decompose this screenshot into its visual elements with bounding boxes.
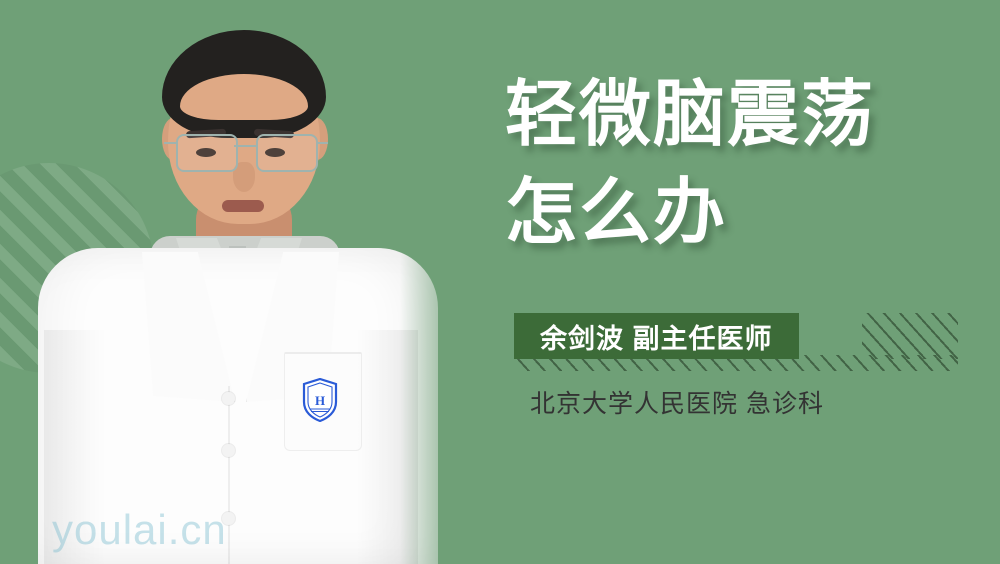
svg-text:H: H: [315, 393, 325, 408]
doctor-name-label: 余剑波 副主任医师: [540, 317, 773, 356]
coat-button-bottom: [222, 512, 235, 525]
glasses-temple-right: [316, 142, 328, 144]
badge-stripes-right: [862, 313, 958, 359]
doctor-name-badge: 余剑波 副主任医师: [514, 313, 799, 359]
coat-shading-right: [356, 330, 418, 564]
glasses-bridge: [234, 145, 256, 147]
eyeglasses: [176, 134, 316, 176]
coat-seam: [228, 386, 230, 564]
page-title: 轻微脑震荡 怎么办: [505, 66, 975, 262]
glasses-lens-left: [176, 134, 238, 172]
hospital-shield-emblem-icon: H: [302, 378, 338, 422]
coat-button-middle: [222, 444, 235, 457]
mouth: [222, 200, 264, 212]
coat-button-top: [222, 392, 235, 405]
glasses-lens-right: [256, 134, 318, 172]
glasses-temple-left: [164, 142, 176, 144]
hair: [162, 30, 326, 138]
doctor-portrait-photo: H: [0, 0, 470, 564]
hospital-affiliation: 北京大学人民医院 急诊科: [530, 384, 824, 420]
coat-shading-left: [44, 330, 106, 564]
video-thumbnail-card: H 轻微脑震荡 怎么办 余剑波 副主任医师 北京大学人民医院 急诊科 youla…: [0, 0, 1000, 564]
